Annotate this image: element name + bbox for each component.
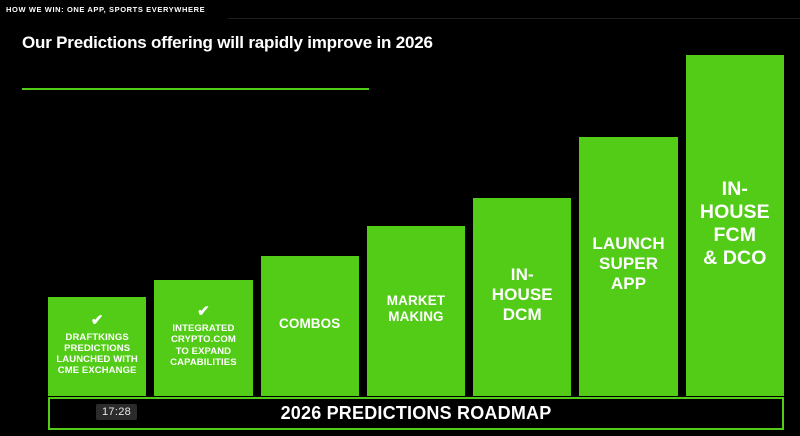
bar-label: IN- HOUSE FCM & DCO	[700, 178, 770, 270]
video-timestamp: 17:28	[96, 404, 137, 420]
bar-row: ✔ DRAFTKINGS PREDICTIONS LAUNCHED WITH C…	[48, 297, 146, 396]
bar-row: LAUNCH SUPER APP	[579, 137, 677, 396]
roadmap-footer-band: 2026 PREDICTIONS ROADMAP	[48, 397, 784, 430]
bar-row: IN- HOUSE DCM	[473, 198, 571, 396]
slide-canvas: HOW WE WIN: ONE APP, SPORTS EVERYWHERE O…	[0, 0, 800, 436]
bar-label: IN- HOUSE DCM	[492, 265, 553, 325]
bar-chart: ✔ DRAFTKINGS PREDICTIONS LAUNCHED WITH C…	[48, 55, 784, 396]
bar-row: ✔ INTEGRATED CRYPTO.COM TO EXPAND CAPABI…	[154, 280, 252, 396]
bar-label: COMBOS	[279, 316, 340, 332]
page-title: Our Predictions offering will rapidly im…	[22, 33, 433, 53]
check-icon: ✔	[91, 313, 104, 328]
bar-label: MARKET MAKING	[387, 293, 445, 325]
bar-label: INTEGRATED CRYPTO.COM TO EXPAND CAPABILI…	[170, 323, 236, 368]
eyebrow-bar: HOW WE WIN: ONE APP, SPORTS EVERYWHERE	[0, 0, 228, 19]
eyebrow-divider	[228, 0, 800, 19]
eyebrow-label: HOW WE WIN: ONE APP, SPORTS EVERYWHERE	[0, 5, 205, 14]
roadmap-footer-label: 2026 PREDICTIONS ROADMAP	[281, 403, 552, 424]
bar-row: MARKET MAKING	[367, 226, 465, 397]
bar-row: COMBOS	[261, 256, 359, 396]
check-icon: ✔	[197, 304, 210, 319]
bar-chart-bars: ✔ DRAFTKINGS PREDICTIONS LAUNCHED WITH C…	[48, 55, 784, 396]
bar-label: LAUNCH SUPER APP	[592, 234, 664, 294]
bar-row: IN- HOUSE FCM & DCO	[686, 55, 784, 396]
bar-label: DRAFTKINGS PREDICTIONS LAUNCHED WITH CME…	[56, 332, 138, 377]
